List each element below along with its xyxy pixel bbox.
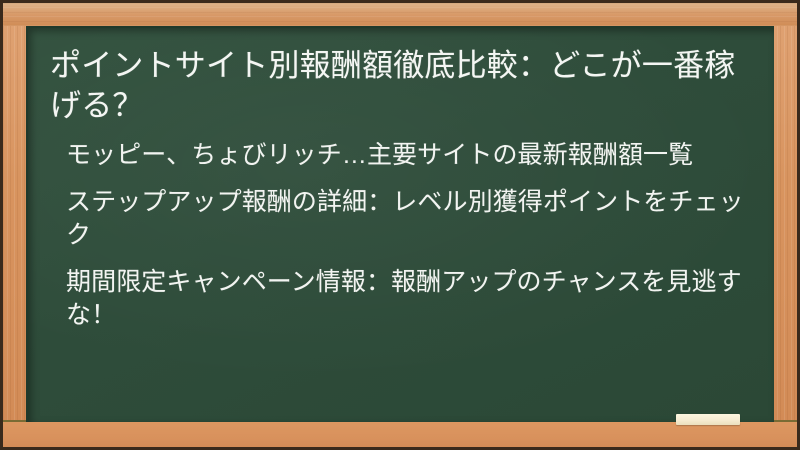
list-item: ステップアップ報酬の詳細：レベル別獲得ポイントをチェック [66,186,746,252]
chalkboard-frame: ポイントサイト別報酬額徹底比較：どこが一番稼げる？ モッピー、ちょびリッチ…主要… [0,0,800,450]
list-item: 期間限定キャンペーン情報：報酬アップのチャンスを見逃すな！ [66,266,746,332]
topic-list: モッピー、ちょびリッチ…主要サイトの最新報酬額一覧 ステップアップ報酬の詳細：レ… [50,139,752,332]
page-title: ポイントサイト別報酬額徹底比較：どこが一番稼げる？ [50,46,740,127]
frame-top-rail [0,0,800,26]
list-item: モッピー、ちょびリッチ…主要サイトの最新報酬額一覧 [66,139,746,172]
chalk-stick-icon [676,414,740,425]
chalkboard-surface: ポイントサイト別報酬額徹底比較：どこが一番稼げる？ モッピー、ちょびリッチ…主要… [26,26,774,422]
